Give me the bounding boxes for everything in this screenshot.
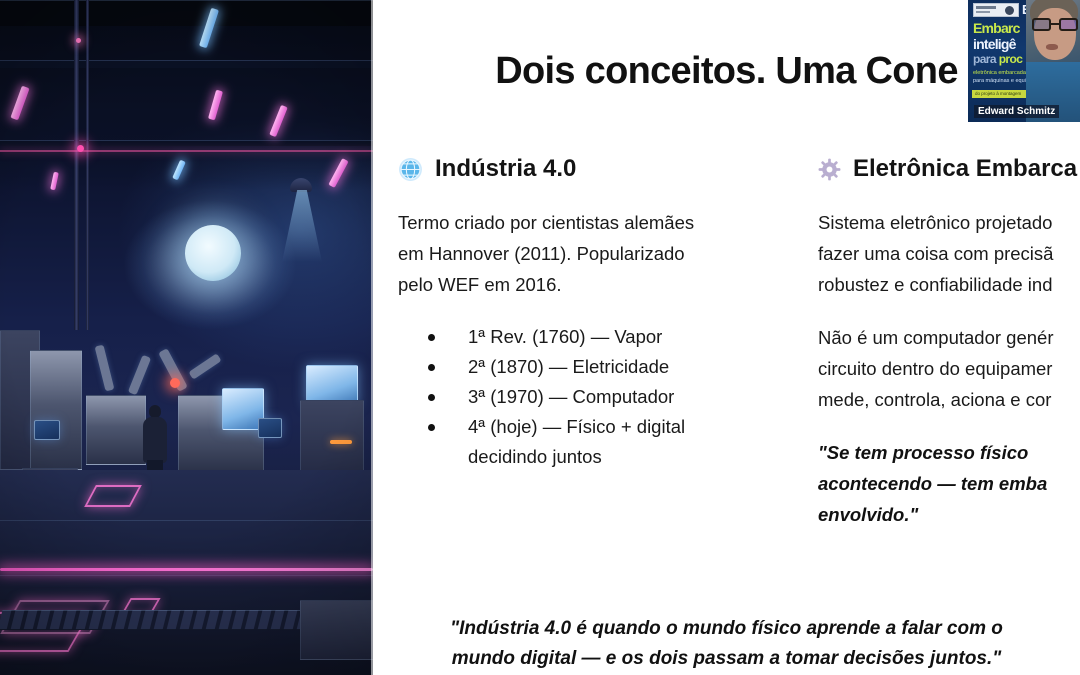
paragraph-line: mede, controla, aciona e cor: [818, 384, 1080, 415]
column-heading-label: Eletrônica Embarca: [853, 155, 1077, 183]
list-item: 3ª (1970) — Computador: [398, 382, 783, 412]
poster-strip-label: do projeto à montagem: [975, 91, 1021, 96]
speaker-nameplate: Edward Schmitz: [974, 105, 1059, 118]
poster-title-line-1: Embarc: [973, 20, 1020, 36]
column-paragraph: Termo criado por cientistas alemães em H…: [398, 207, 783, 300]
presentation-screen: Dois conceitos. Uma Cone: [0, 0, 1080, 675]
poster-title-line-3b: proc: [999, 52, 1023, 66]
poster-title-line-3a: para: [973, 52, 996, 66]
poster-strip: do projeto à montagem: [972, 90, 1028, 98]
column-paragraph-explanation: Não é um computador genér circuito dentr…: [818, 322, 1080, 415]
revolutions-list: 1ª Rev. (1760) — Vapor 2ª (1870) — Eletr…: [398, 322, 783, 472]
poster-title-line-3: para proc: [973, 52, 1022, 66]
list-item-continuation: decidindo juntos: [468, 442, 783, 472]
list-item: 4ª (hoje) — Físico + digital decidindo j…: [398, 412, 783, 472]
photo-vignette: [0, 0, 373, 675]
paragraph-line: Não é um computador genér: [818, 322, 1080, 353]
speaker-mouth: [1046, 44, 1058, 50]
speaker-face: [1034, 8, 1076, 60]
poster-badge: [973, 3, 1019, 17]
paragraph-line: circuito dentro do equipamer: [818, 353, 1080, 384]
list-item-text: 4ª (hoje) — Físico + digital: [468, 416, 685, 437]
factory-illustration: [0, 0, 373, 675]
column-quote: "Se tem processo físico acontecendo — te…: [818, 437, 1080, 530]
slide-footer-quote: "Indústria 4.0 é quando o mundo físico a…: [373, 614, 1080, 674]
quote-line: envolvido.": [818, 499, 1080, 530]
globe-icon: [398, 157, 423, 182]
quote-line: acontecendo — tem emba: [818, 468, 1080, 499]
paragraph-line: pelo WEF em 2016.: [398, 269, 783, 300]
gear-icon: [818, 158, 841, 181]
poster-subtitle-line-2: para máquinas e equip: [973, 78, 1029, 84]
column-heading-label: Indústria 4.0: [435, 155, 576, 183]
column-heading-row: Indústria 4.0: [398, 155, 783, 183]
paragraph-line: em Hannover (2011). Popularizado: [398, 238, 783, 269]
footer-quote-line-1: "Indústria 4.0 é quando o mundo físico a…: [450, 618, 1003, 639]
speaker-video: [1026, 0, 1080, 122]
eyeglasses-icon: [1032, 18, 1078, 31]
list-item: 2ª (1870) — Eletricidade: [398, 352, 783, 382]
paragraph-line: Sistema eletrônico projetado: [818, 207, 1080, 238]
poster-title-line-2: inteligê: [973, 36, 1016, 52]
footer-quote-line-2: mundo digital — e os dois passam a tomar…: [373, 644, 1080, 674]
list-item: 1ª Rev. (1760) — Vapor: [398, 322, 783, 352]
column-industria-40: Indústria 4.0 Termo criado por cientista…: [398, 155, 783, 472]
webcam-overlay[interactable]: EM Embarc inteligê para proc eletrônica …: [968, 0, 1080, 122]
column-paragraph-definition: Sistema eletrônico projetado fazer uma c…: [818, 207, 1080, 300]
paragraph-line: Termo criado por cientistas alemães: [398, 207, 783, 238]
paragraph-line: robustez e confiabilidade ind: [818, 269, 1080, 300]
paragraph-line: fazer uma coisa com precisã: [818, 238, 1080, 269]
column-heading-row: Eletrônica Embarca: [818, 155, 1080, 183]
quote-line: "Se tem processo físico: [818, 437, 1080, 468]
column-eletronica-embarcada: Eletrônica Embarca Sistema eletrônico pr…: [818, 155, 1080, 530]
